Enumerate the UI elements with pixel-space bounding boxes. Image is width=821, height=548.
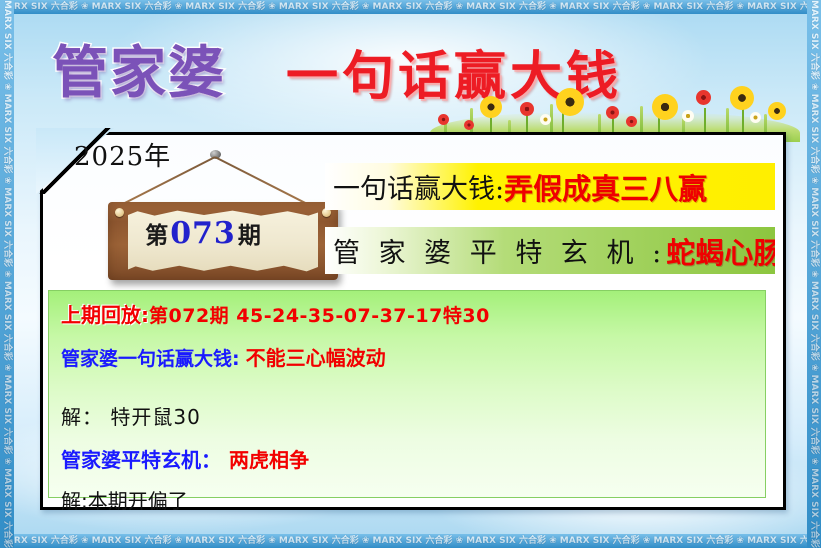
flower-icon xyxy=(730,86,754,110)
brand-title-fill: 管家婆 xyxy=(52,28,226,109)
prev-yiju-value: 不能三心幅波动 xyxy=(240,342,386,371)
info-box: 上期回放: 第072期 45-24-35-07-37-17特30 管家婆一句话赢… xyxy=(48,290,766,498)
flower-icon xyxy=(556,88,584,116)
issue-number: 第073期 xyxy=(108,202,298,264)
banner-pingte-value: 蛇蝎心肠 xyxy=(666,230,775,272)
flower-icon xyxy=(696,90,711,105)
poster-canvas: MARX SIX 六合彩 ❀ MARX SIX 六合彩 ❀ MARX SIX 六… xyxy=(0,0,821,548)
prev-pingte-answer-row: 解:本期开偏了 xyxy=(61,485,765,514)
issue-suffix: 期 xyxy=(238,216,261,250)
banner-pingte-label: 管 家 婆 平 特 玄 机 : xyxy=(333,231,666,270)
flower-icon xyxy=(480,96,502,118)
prev-pingte-label: 管家婆平特玄机： xyxy=(61,444,221,473)
rope-icon xyxy=(215,156,216,157)
flower-icon xyxy=(626,116,637,127)
hanging-sign: 第073期 xyxy=(100,150,350,295)
prev-yiju-row: 管家婆一句话赢大钱: 不能三心幅波动 xyxy=(61,342,765,371)
replay-label: 上期回放: xyxy=(61,299,149,328)
border-left-text: MARX SIX 六合彩 ❀ MARX SIX 六合彩 ❀ MARX SIX 六… xyxy=(0,0,14,548)
prev-pingte-answer: 解:本期开偏了 xyxy=(61,485,188,514)
flower-icon xyxy=(520,102,534,116)
banner-yiju-label: 一句话赢大钱: xyxy=(333,167,504,206)
flower-icon xyxy=(750,112,761,123)
prev-pingte-row: 管家婆平特玄机： 两虎相争 xyxy=(61,444,765,473)
border-left: MARX SIX 六合彩 ❀ MARX SIX 六合彩 ❀ MARX SIX 六… xyxy=(0,0,14,548)
border-top: MARX SIX 六合彩 ❀ MARX SIX 六合彩 ❀ MARX SIX 六… xyxy=(0,0,821,14)
flower-icon xyxy=(682,110,694,122)
prev-yiju-answer: 解： 特开鼠30 xyxy=(61,401,201,430)
prev-yiju-label: 管家婆一句话赢大钱: xyxy=(61,344,240,371)
flower-icon xyxy=(540,114,551,125)
banner-pingte: 管 家 婆 平 特 玄 机 : 蛇蝎心肠 xyxy=(325,227,775,274)
border-bottom-text: MARX SIX 六合彩 ❀ MARX SIX 六合彩 ❀ MARX SIX 六… xyxy=(0,534,821,548)
border-right: MARX SIX 六合彩 ❀ MARX SIX 六合彩 ❀ MARX SIX 六… xyxy=(807,0,821,548)
wooden-board: 第073期 xyxy=(108,202,338,280)
border-top-text: MARX SIX 六合彩 ❀ MARX SIX 六合彩 ❀ MARX SIX 六… xyxy=(0,0,821,14)
issue-prefix: 第 xyxy=(145,216,168,250)
flower-icon xyxy=(768,102,786,120)
flower-icon xyxy=(464,120,474,130)
replay-value: 第072期 45-24-35-07-37-17特30 xyxy=(149,301,490,328)
banner-yiju-value: 弄假成真三八赢 xyxy=(504,166,707,208)
banner-yiju: 一句话赢大钱: 弄假成真三八赢 xyxy=(325,163,775,210)
flower-icon xyxy=(438,114,449,125)
prev-pingte-value: 两虎相争 xyxy=(221,444,309,473)
border-right-text: MARX SIX 六合彩 ❀ MARX SIX 六合彩 ❀ MARX SIX 六… xyxy=(807,0,821,548)
replay-row: 上期回放: 第072期 45-24-35-07-37-17特30 xyxy=(61,299,765,328)
prev-yiju-answer-row: 解： 特开鼠30 xyxy=(61,401,765,430)
issue-value: 073 xyxy=(168,216,238,251)
border-bottom: MARX SIX 六合彩 ❀ MARX SIX 六合彩 ❀ MARX SIX 六… xyxy=(0,534,821,548)
flower-icon xyxy=(606,106,619,119)
flower-icon xyxy=(652,94,678,120)
